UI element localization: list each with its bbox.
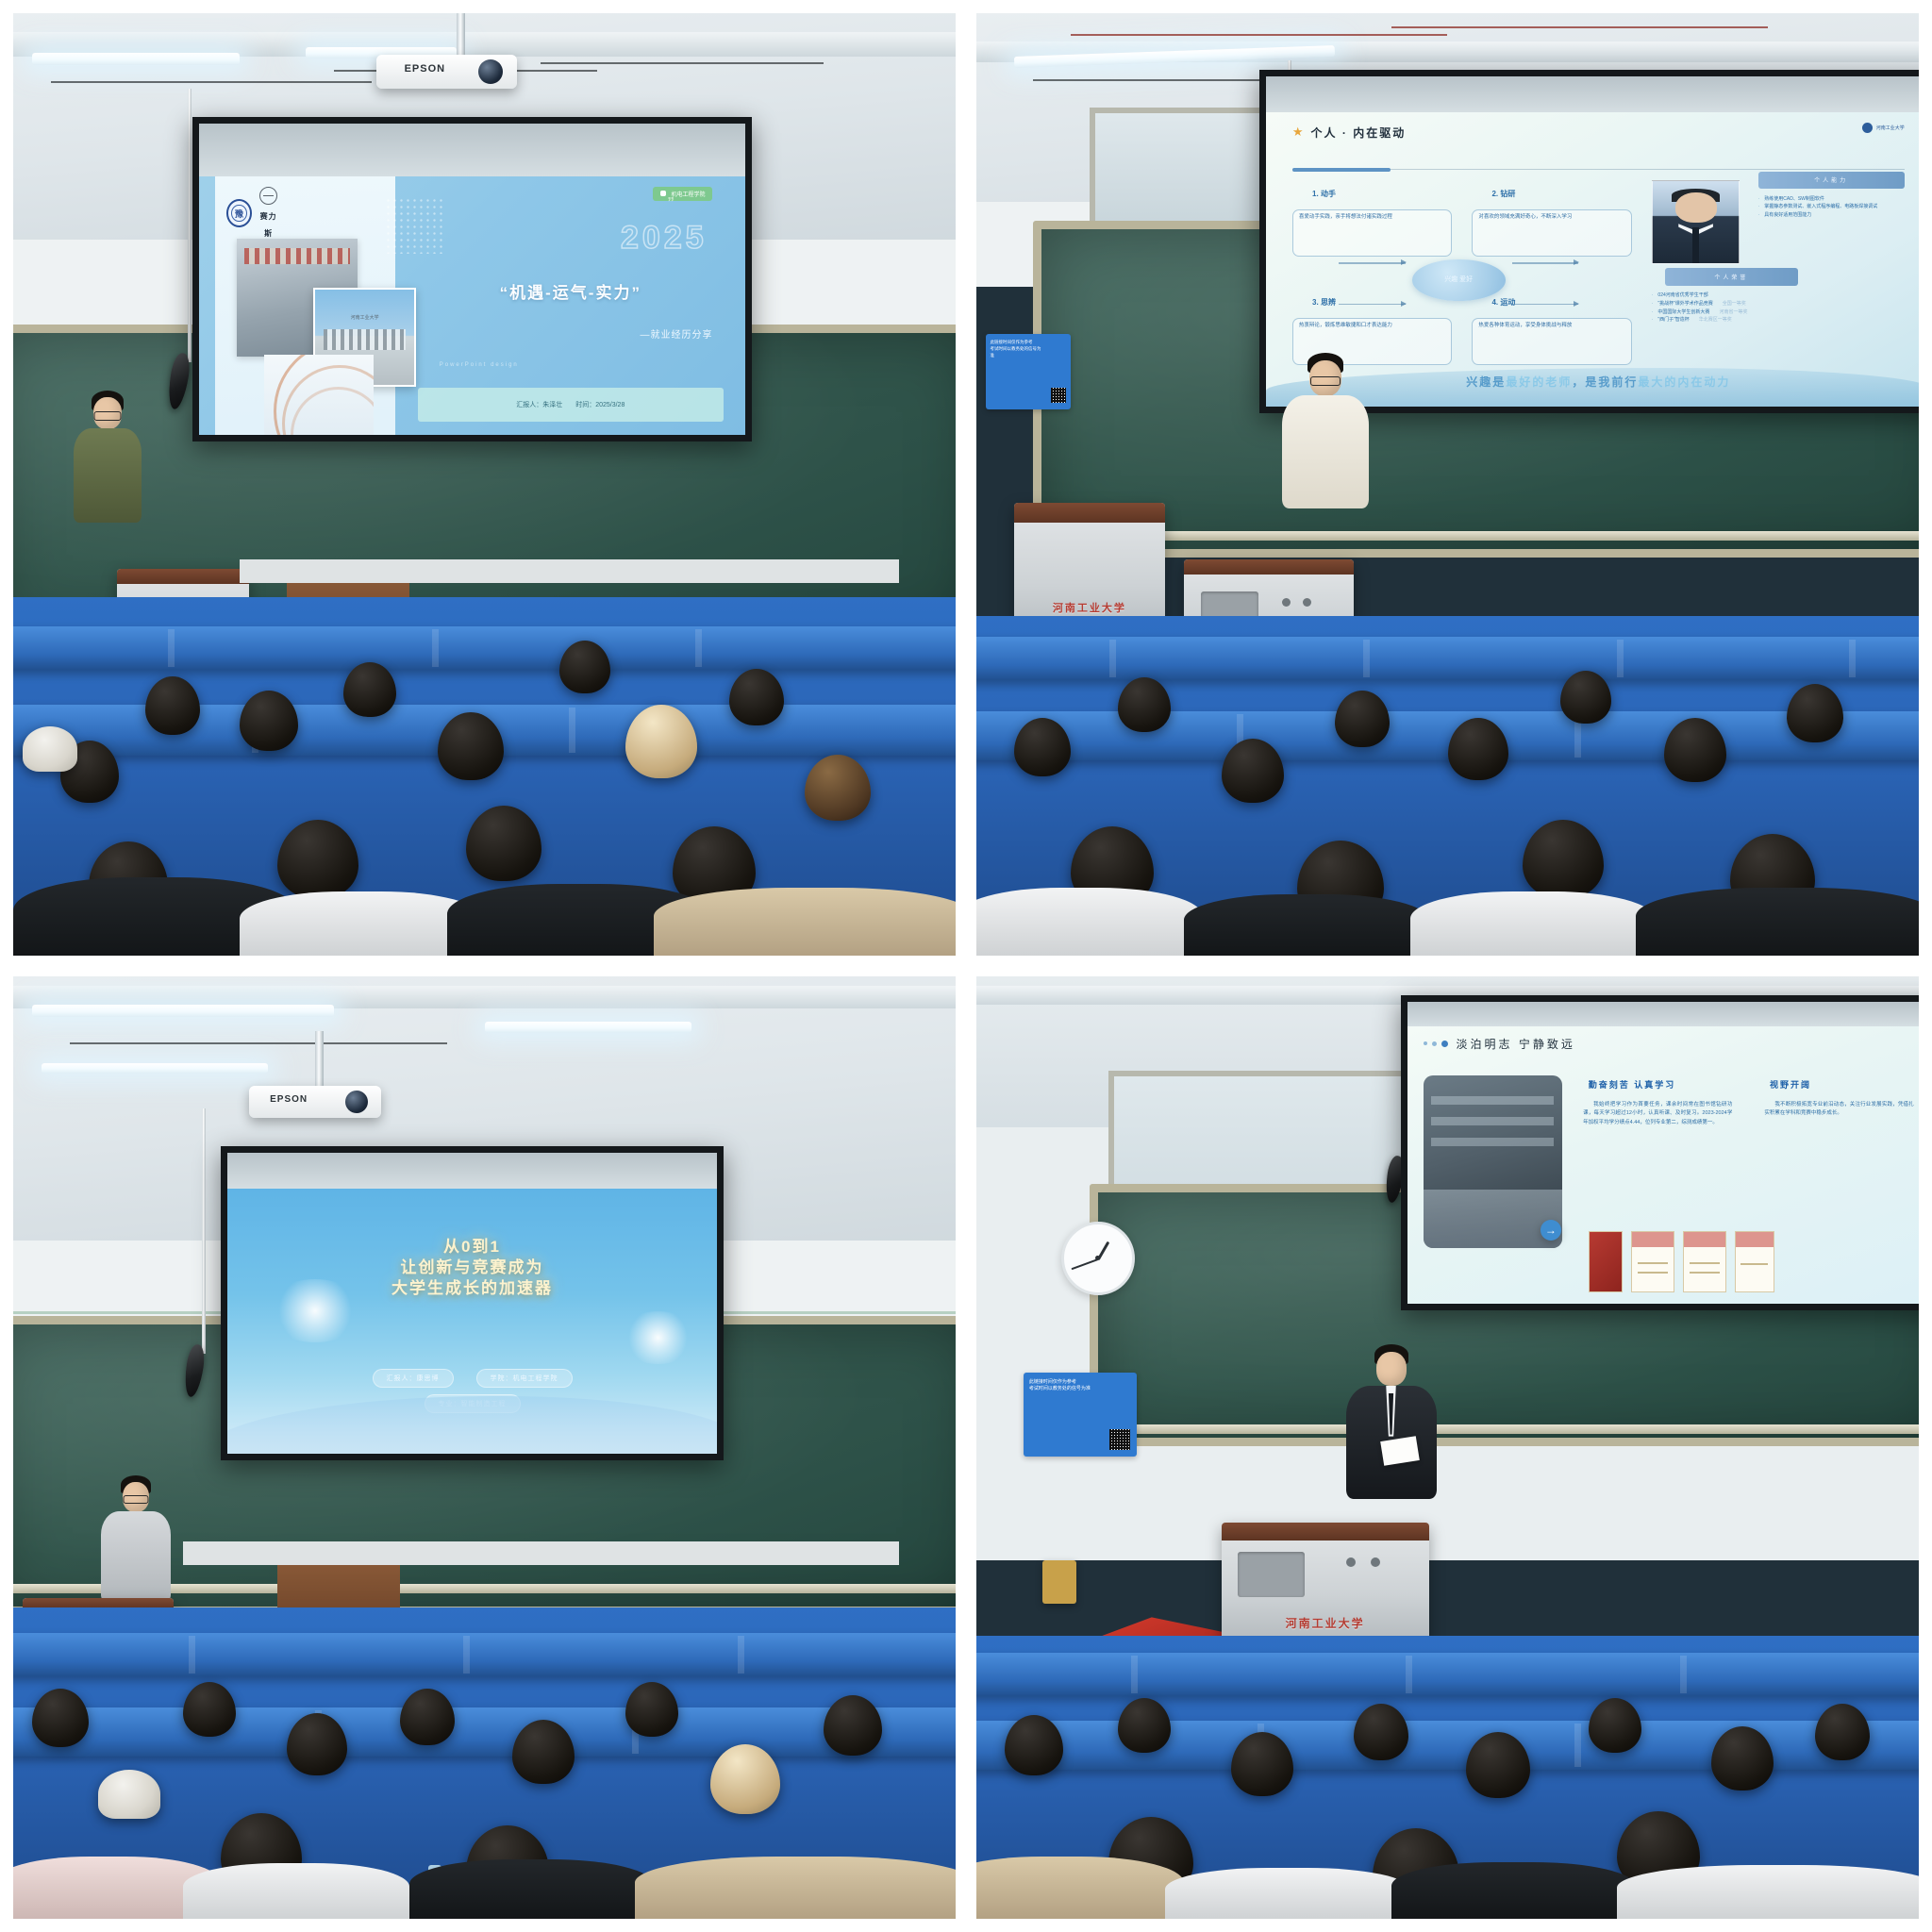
lectern-university-name: 河南工业大学	[1230, 1615, 1421, 1631]
qr-code-icon	[1109, 1429, 1130, 1450]
audience-head	[1787, 684, 1843, 742]
star-icon: ★	[1292, 125, 1304, 140]
audience-head	[1005, 1715, 1063, 1775]
audience-area	[13, 597, 956, 956]
audience-shoulders	[976, 1857, 1184, 1919]
lectern-panel	[1238, 1552, 1304, 1597]
ceiling-wire	[51, 81, 372, 83]
slide-tagline: PowerPoint design	[440, 362, 519, 368]
bookshelf-row	[1431, 1096, 1553, 1105]
quadrant-title-2: 2. 钻研	[1491, 189, 1515, 199]
audience-head	[1222, 739, 1284, 803]
audience-head	[1118, 677, 1171, 732]
speaker-glasses-icon	[93, 411, 121, 421]
slide-title-opportunity: 豫 赛力斯 河南工业大学	[199, 176, 745, 435]
projector-brand: EPSON	[270, 1094, 308, 1105]
slide-header: ★ 个人 · 内在驱动	[1292, 125, 1406, 141]
slide-zero-to-one: 从0到1 让创新与竞赛成为 大学生成长的加速器 汇报人：康思博 学院：机电工程学…	[227, 1189, 717, 1454]
column-1-body: 我始终把学习作为首要任务，课余时间常在图书馆钻研功课，每天学习超过12小时，认真…	[1583, 1101, 1732, 1127]
honors-list: ·024河南省优秀学生干部 ·“挑战杯”课外学术作品竞赛全国一等奖 ·中国国际大…	[1652, 291, 1748, 325]
chair	[1042, 1560, 1076, 1604]
certificate	[1683, 1231, 1726, 1292]
lectern-knob	[1371, 1557, 1380, 1567]
light-tube	[42, 1063, 268, 1074]
chalk-rail	[1090, 1424, 1919, 1434]
audience-head-cap	[23, 726, 77, 772]
projector: EPSON	[249, 1086, 381, 1118]
header-rule	[1292, 169, 1905, 171]
audience-shoulders	[1184, 894, 1429, 956]
audience-head	[400, 1689, 455, 1745]
speaker-glasses-icon	[123, 1495, 148, 1504]
audience-head	[438, 712, 504, 780]
quadrant-title-1: 1. 动手	[1312, 189, 1336, 199]
skills-list: ·熟练使用CAD、SW制图软件 ·掌握静态参数测试、嵌入式程序编程、电路板焊接调…	[1758, 195, 1878, 220]
projection-screen: 豫 赛力斯 河南工业大学	[192, 117, 752, 441]
panel-bottom-left: EPSON 从0到1 让创新与竞赛成为 大学生成长的加速器 汇报人：康思博	[13, 976, 956, 1919]
audience-head	[1589, 1698, 1641, 1753]
seat-row	[976, 1653, 1919, 1696]
building-roof	[244, 248, 350, 265]
clock-minute-hand	[1071, 1258, 1098, 1270]
certificate	[1631, 1231, 1674, 1292]
audience-shoulders	[654, 888, 956, 956]
audience-head	[466, 806, 541, 881]
quadrant-title-3: 3. 思辨	[1312, 297, 1336, 308]
slide-header: 淡泊明志 宁静致远	[1424, 1036, 1575, 1052]
chip-row: 汇报人：康思博 学院：机电工程学院	[373, 1369, 573, 1388]
arrow-connector	[1512, 262, 1579, 264]
portrait-tie	[1692, 227, 1699, 263]
projector-lens	[345, 1091, 368, 1113]
center-interest-ball: 兴趣 爱好	[1412, 259, 1506, 301]
projector-brand: EPSON	[405, 63, 446, 75]
qr-code-icon	[1051, 388, 1066, 403]
seat-row	[13, 626, 956, 670]
audience-head	[277, 820, 358, 899]
projection-screen: 淡泊明志 宁静致远 → 勤奋刻苦 认真学习 我始终把学习作为首要任务，课余时间常…	[1401, 995, 1919, 1310]
light-tube	[485, 1022, 692, 1033]
slide-logo-row: 豫 赛力斯	[226, 187, 280, 241]
slide-footer-date: 时间：2025/3/28	[575, 400, 625, 409]
certificate	[1589, 1231, 1623, 1292]
speaker-notes-paper	[1380, 1436, 1420, 1466]
column-2-title: 视野开阔	[1770, 1078, 1811, 1091]
speaker-body	[1282, 395, 1369, 508]
lectern-top	[117, 569, 249, 584]
lectern-top	[1184, 559, 1354, 575]
portrait-face	[1675, 192, 1717, 222]
lectern-top	[1014, 503, 1165, 523]
column-1-title: 勤奋刻苦 认真学习	[1589, 1078, 1676, 1091]
projector-mount	[315, 1031, 324, 1093]
quadrant-body-4: 热爱各种体育运动，享受身体挑战与释放	[1472, 318, 1631, 365]
notice-text: 此链接时间仅作为参考 考试时间以教务处的信号为准	[1029, 1379, 1103, 1393]
decor-quote-icon: ”	[667, 194, 675, 210]
audience-shoulders	[1165, 1868, 1410, 1919]
ceiling-wire	[541, 62, 824, 64]
projection-screen: 从0到1 让创新与竞赛成为 大学生成长的加速器 汇报人：康思博 学院：机电工程学…	[221, 1146, 724, 1461]
speaker-body	[101, 1511, 171, 1602]
audience-shoulders	[1410, 891, 1656, 956]
audience-head	[287, 1713, 347, 1775]
lectern-knob	[1282, 598, 1291, 607]
company-logo: 赛力斯	[257, 187, 279, 241]
seat-row	[13, 1707, 956, 1757]
quadrant-body-1: 喜爱动手实践，亲手将想法付诸实践过程	[1292, 209, 1452, 257]
audience-shoulders	[1391, 1862, 1637, 1919]
portrait-photo	[1652, 180, 1740, 264]
screen-top-band	[1266, 76, 1919, 112]
slide-diligent-study: 淡泊明志 宁静致远 → 勤奋刻苦 认真学习 我始终把学习作为首要任务，课余时间常…	[1407, 1026, 1919, 1304]
audience-shoulders	[409, 1859, 655, 1919]
audience-head	[805, 755, 871, 821]
ceiling-wire	[1071, 34, 1448, 36]
decor-dot-grid	[385, 197, 445, 254]
audience-shoulders	[1636, 888, 1919, 956]
screen-top-band	[199, 124, 745, 176]
panel-bottom-right: 此链接时间仅作为参考 考试时间以教务处的信号为准 淡泊明志 宁静致远	[976, 976, 1919, 1919]
arrow-connector	[1512, 304, 1579, 306]
certificate	[1735, 1231, 1774, 1292]
brand-mark-icon	[259, 187, 277, 205]
audience-head	[1231, 1732, 1293, 1796]
slide-title: “机遇-运气-实力”	[418, 279, 724, 303]
audience-shoulders	[976, 888, 1203, 956]
speaker-glasses-icon	[1310, 376, 1341, 386]
column-2-body: 我不断积极拓宽专业前沿动态，关注行业发展实践，凭借扎实积累在学科和竞赛中稳步成长…	[1764, 1101, 1913, 1119]
speaker-body	[74, 428, 142, 523]
audience-head	[625, 1682, 678, 1737]
chip-presenter: 汇报人：康思博	[373, 1369, 454, 1388]
university-mark-icon	[1862, 123, 1873, 133]
microphone-cable	[202, 1108, 206, 1354]
notice-text: 此链接时间仅作为参考 考试时间以教务处的信号为准	[990, 340, 1044, 358]
light-tube	[32, 53, 240, 65]
university-logo: 河南工业大学	[1862, 123, 1905, 133]
panel-top-right: 此链接时间仅作为参考 考试时间以教务处的信号为准 ★ 个人 · 内在驱动 河南工…	[976, 13, 1919, 956]
slide-footer-presenter: 汇报人：朱泽壮	[516, 400, 562, 409]
badge-square-icon	[660, 191, 666, 196]
slide-title: 从0到1 让创新与竞赛成为 大学生成长的加速器	[227, 1237, 717, 1299]
header-dots-icon	[1424, 1041, 1448, 1047]
audience-area	[976, 1636, 1919, 1919]
chalk-rail	[1033, 531, 1919, 541]
audience-head	[32, 1689, 89, 1747]
photo-collage: EPSON 豫 赛力斯	[0, 0, 1932, 1932]
lectern-knob	[1346, 1557, 1356, 1567]
audience-shoulders	[183, 1863, 409, 1919]
lectern: 河南工业大学 HENAN UNIVERSITY OF TECHNOLOGY	[1222, 1523, 1429, 1655]
screen-top-band	[227, 1153, 717, 1189]
speaker-head	[1376, 1352, 1407, 1386]
university-seal-icon: 豫	[226, 199, 252, 227]
quadrant-body-2: 对喜欢的领域充满好奇心，不断深入学习	[1472, 209, 1631, 257]
audience-head	[1815, 1704, 1870, 1760]
audience-head	[1448, 718, 1508, 780]
lectern-top	[1222, 1523, 1429, 1540]
slide-subtitle: —就业经历分享	[418, 326, 713, 341]
audience-head	[183, 1682, 236, 1737]
slide-ghost-year: 2025	[621, 220, 708, 257]
audience-head	[343, 662, 396, 717]
bookshelf-row	[1431, 1138, 1553, 1146]
slide-org-badge: 机电工程学院	[653, 187, 712, 201]
audience-head	[729, 669, 784, 725]
arrow-connector	[1339, 262, 1406, 264]
audience-head	[1014, 718, 1071, 776]
lectern-knob	[1303, 598, 1311, 607]
audience-shoulders	[1617, 1865, 1919, 1919]
stage-ledge	[183, 1541, 899, 1565]
ceiling-wire	[1391, 26, 1769, 28]
audience-shoulders	[635, 1857, 956, 1919]
lectern-university-name: 河南工业大学	[1020, 600, 1158, 615]
wall-clock	[1061, 1222, 1135, 1295]
certificate-row	[1589, 1231, 1774, 1292]
notice-board: 此链接时间仅作为参考 考试时间以教务处的信号为准	[986, 334, 1071, 409]
decor-glow	[619, 1311, 697, 1364]
desk	[1424, 1190, 1562, 1248]
seat-row	[976, 637, 1919, 680]
slide-footer-bar: 汇报人：朱泽壮 时间：2025/3/28	[418, 388, 724, 422]
bookshelf-row	[1431, 1117, 1553, 1125]
ceiling-wire	[70, 1042, 447, 1044]
honors-ribbon: 个人荣誉	[1665, 268, 1798, 286]
audience-head	[1118, 1698, 1171, 1753]
audience-head	[824, 1695, 882, 1756]
microphone-cable	[188, 89, 192, 362]
arrow-connector	[1339, 304, 1406, 306]
audience-head	[240, 691, 298, 751]
audience-area	[13, 1607, 956, 1919]
audience-head-cap	[98, 1770, 160, 1819]
slide-photo-library	[1424, 1075, 1562, 1247]
panel-top-left: EPSON 豫 赛力斯	[13, 13, 956, 956]
audience-head	[145, 676, 200, 735]
screen-top-band	[1407, 1002, 1919, 1026]
stage-ledge	[240, 559, 899, 583]
projector-lens	[478, 59, 503, 84]
light-tube	[32, 1005, 334, 1017]
chip-college: 学院：机电工程学院	[476, 1369, 573, 1388]
slide-photo-arcs	[264, 355, 374, 435]
seat-row	[13, 1633, 956, 1676]
audience-head	[1335, 691, 1390, 747]
audience-head	[1523, 820, 1604, 899]
audience-area	[976, 616, 1919, 956]
notice-board: 此链接时间仅作为参考 考试时间以教务处的信号为准	[1024, 1373, 1137, 1457]
campus-gate	[324, 329, 407, 350]
audience-head	[1354, 1704, 1408, 1760]
skills-ribbon: 个人能力	[1758, 172, 1905, 190]
projector: EPSON	[376, 55, 518, 89]
